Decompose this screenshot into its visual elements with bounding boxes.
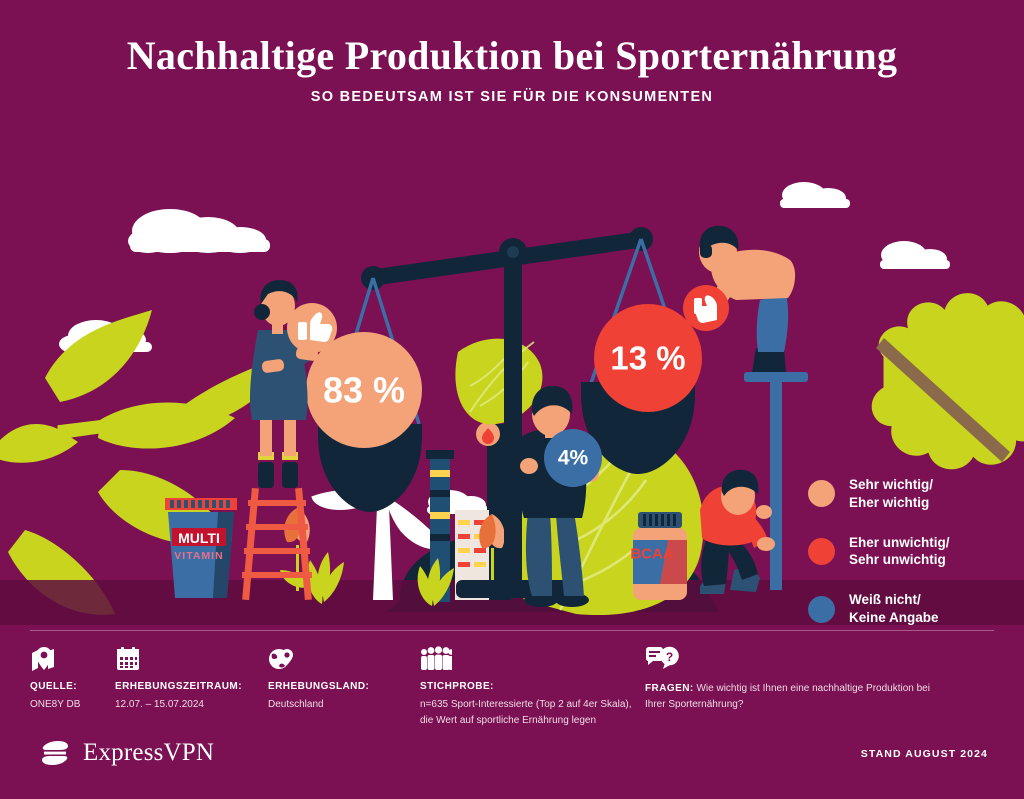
cloud-icon [780,182,850,208]
meta-fragen: ? FRAGEN: Wie wichtig ist Ihnen eine nac… [645,646,985,712]
question-chat-icon: ? [645,646,679,672]
legend-item-eher-unwichtig: Eher unwichtig/ Sehr unwichtig [808,534,1018,570]
value-label-4: 4% [558,447,589,470]
legend-line-1: Sehr wichtig/ [849,477,933,492]
legend-item-weiss-nicht: Weiß nicht/ Keine Angabe [808,591,1018,627]
svg-text:?: ? [666,650,673,664]
meta-land: ERHEBUNGSLAND: Deutschland [268,646,408,713]
meta-quelle-value: ONE8Y DB [30,697,110,713]
bcaa-bottle: BCAA [630,512,687,600]
globe-pin-icon [268,646,294,672]
bottle-label: BCAA [630,546,673,563]
poster-footer: ExpressVPN STAND AUGUST 2024 [30,736,994,780]
meta-stichprobe: STICHPROBE: n=635 Sport-Interessierte (T… [420,646,635,728]
meta-zeitraum-label: ERHEBUNGSZEITRAUM: [115,681,265,692]
meta-quelle-label: QUELLE: [30,681,110,692]
legend-line-1: Eher unwichtig/ [849,535,950,550]
meta-land-value: Deutschland [268,697,408,713]
legend-label: Weiß nicht/ Keine Angabe [849,591,939,627]
legend-swatch-peach [808,480,835,507]
meta-stichprobe-label: STICHPROBE: [420,681,635,692]
meta-zeitraum: ERHEBUNGSZEITRAUM: 12.07. – 15.07.2024 [115,646,265,713]
legend-line-2: Keine Angabe [849,610,939,625]
legend-line-2: Sehr unwichtig [849,552,946,567]
cloud-icon [128,209,270,253]
legend-item-sehr-wichtig: Sehr wichtig/ Eher wichtig [808,476,1018,512]
footer-divider [30,630,994,631]
leaf-medium-center [455,339,542,425]
legend-label: Eher unwichtig/ Sehr unwichtig [849,534,950,570]
legend: Sehr wichtig/ Eher wichtig Eher unwichti… [808,476,1018,649]
value-label-83: 83 % [323,370,405,411]
legend-swatch-blue [808,596,835,623]
value-bubble-13: 13 % [594,304,702,412]
brand-logo: ExpressVPN [38,736,214,770]
value-label-13: 13 % [610,340,685,377]
metadata-row: QUELLE: ONE8Y DB ERHEBUNGSZEITRAUM: 1 [30,646,994,732]
meta-fragen-line2: Ihrer Sporternährung? [645,699,743,710]
meta-stichprobe-line2: die Wert auf sportliche Ernährung legen [420,713,635,729]
meta-quelle: QUELLE: ONE8Y DB [30,646,110,713]
person-crouching [700,470,775,594]
legend-line-2: Eher wichtig [849,495,929,510]
meta-stichprobe-line1: n=635 Sport-Interessierte (Top 2 auf 4er… [420,697,635,713]
jar-label-top: MULTI [178,530,220,546]
map-pin-icon [30,646,56,672]
meta-fragen-text: FRAGEN: Wie wichtig ist Ihnen eine nachh… [645,681,985,712]
people-group-icon [420,646,452,672]
legend-swatch-red [808,538,835,565]
meta-land-label: ERHEBUNGSLAND: [268,681,408,692]
brand-name: ExpressVPN [83,739,214,767]
jar-label-bottom: VITAMIN [174,550,223,562]
stand-date: STAND AUGUST 2024 [861,748,988,760]
leaf-oak-right [872,293,1024,469]
calendar-icon [115,646,141,672]
meta-zeitraum-value: 12.07. – 15.07.2024 [115,697,265,713]
legend-label: Sehr wichtig/ Eher wichtig [849,476,933,512]
meta-fragen-label: FRAGEN: [645,683,694,694]
infographic-poster: Nachhaltige Produktion bei Sporternährun… [0,0,1024,799]
legend-line-1: Weiß nicht/ [849,592,921,607]
cloud-icon [880,241,950,269]
expressvpn-logo-icon [38,736,72,770]
multivitamin-jar: MULTI VITAMIN [165,498,237,598]
meta-fragen-line1: Wie wichtig ist Ihnen eine nachhaltige P… [696,683,929,694]
